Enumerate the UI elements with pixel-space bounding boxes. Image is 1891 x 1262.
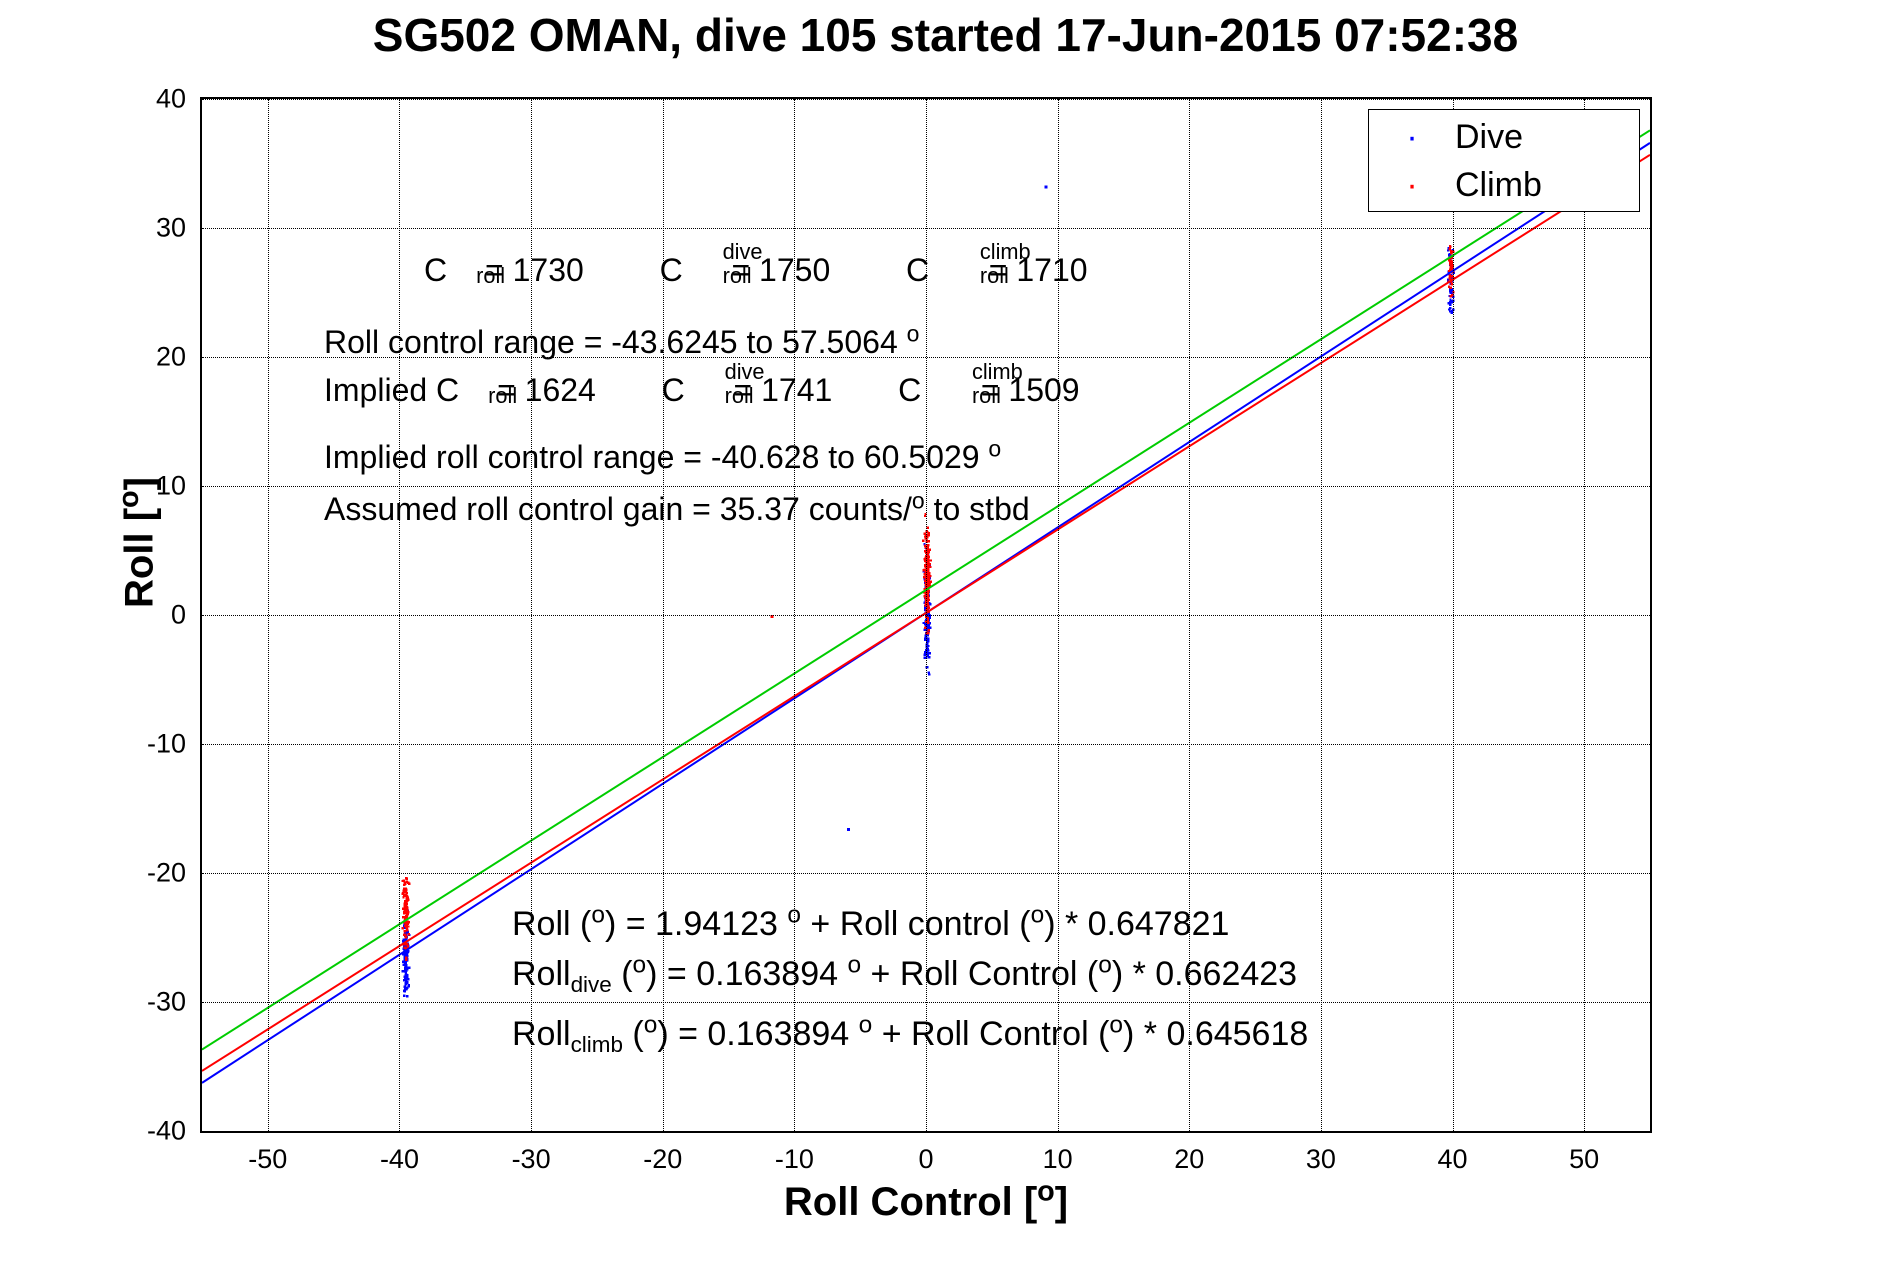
figure-root: SG502 OMAN, dive 105 started 17-Jun-2015… xyxy=(0,0,1891,1262)
y-tick-label: 0 xyxy=(171,600,186,631)
figure-title: SG502 OMAN, dive 105 started 17-Jun-2015… xyxy=(0,8,1891,62)
annotation-gain: Assumed roll control gain = 35.37 counts… xyxy=(324,491,1030,528)
legend-item-dive[interactable]: · Dive xyxy=(1369,113,1639,161)
legend-label-dive: Dive xyxy=(1455,118,1523,157)
degree-symbol-gain: o xyxy=(912,487,925,513)
outlier-point xyxy=(1044,185,1047,188)
dive-marker-icon: · xyxy=(1369,120,1455,154)
y-tick-label: 30 xyxy=(156,213,186,244)
x-tick-label: 10 xyxy=(1043,1135,1073,1175)
outlier-point xyxy=(847,828,850,831)
c-roll-climb-symbol: Cclimbrollclimb xyxy=(906,252,980,289)
gridline-y xyxy=(202,99,1650,100)
legend: · Dive · Climb xyxy=(1368,109,1640,212)
y-tick-label: 10 xyxy=(156,471,186,502)
x-tick-label: 0 xyxy=(918,1135,933,1175)
annotation-c-roll-line: Crollroll = 1730 Cdiverolldive = 1750 Cc… xyxy=(424,252,1088,289)
gridline-y xyxy=(202,228,1650,229)
implied-c-roll-symbol: rollroll xyxy=(459,372,488,409)
gridline-y xyxy=(202,744,1650,745)
degree-symbol-y: o xyxy=(113,490,145,508)
climb-marker-icon: · xyxy=(1369,168,1455,202)
y-tick-label: 20 xyxy=(156,342,186,373)
x-tick-label: 30 xyxy=(1306,1135,1336,1175)
x-tick-label: -10 xyxy=(775,1135,814,1175)
equation-roll-dive: Rolldive (o) = 0.163894 o + Roll Control… xyxy=(512,955,1297,998)
x-tick-label: -30 xyxy=(512,1135,551,1175)
legend-item-climb[interactable]: · Climb xyxy=(1369,161,1639,209)
x-tick-label: -50 xyxy=(248,1135,287,1175)
x-tick-label: 50 xyxy=(1569,1135,1599,1175)
x-tick-label: -40 xyxy=(380,1135,419,1175)
y-tick-label: 40 xyxy=(156,84,186,115)
equation-roll-climb: Rollclimb (o) = 0.163894 o + Roll Contro… xyxy=(512,1015,1308,1058)
x-tick-label: 20 xyxy=(1174,1135,1204,1175)
annotation-roll-control-range: Roll control range = -43.6245 to 57.5064… xyxy=(324,324,919,361)
x-tick-label: -20 xyxy=(643,1135,682,1175)
annotation-implied-range: Implied roll control range = -40.628 to … xyxy=(324,439,1001,476)
x-tick-label: 40 xyxy=(1438,1135,1468,1175)
gridline-y xyxy=(202,486,1650,487)
y-tick-label: -20 xyxy=(147,858,186,889)
gridline-y xyxy=(202,1002,1650,1003)
degree-symbol-range: o xyxy=(907,320,920,346)
x-axis-label: Roll Control [o] xyxy=(200,1180,1652,1225)
degree-symbol-x: o xyxy=(1037,1176,1055,1208)
implied-c-roll-climb-symbol: Cclimbrollclimb xyxy=(898,372,972,409)
annotation-implied-c-roll-line: Implied Crollroll = 1624 Cdiverolldive =… xyxy=(324,372,1080,409)
equation-roll-combined: Roll (o) = 1.94123 o + Roll control (o) … xyxy=(512,905,1229,944)
c-roll-symbol: Crollroll xyxy=(424,252,476,289)
gridline-y xyxy=(202,615,1650,616)
plot-area: -50-40-30-20-1001020304050 -40-30-20-100… xyxy=(200,97,1652,1133)
y-tick-label: -10 xyxy=(147,729,186,760)
legend-label-climb: Climb xyxy=(1455,166,1542,205)
y-tick-label: -30 xyxy=(147,987,186,1018)
degree-symbol-implied-range: o xyxy=(988,435,1001,461)
y-axis-label: Roll [o] xyxy=(118,343,163,743)
gridline-y xyxy=(202,873,1650,874)
y-tick-label: -40 xyxy=(147,1116,186,1147)
c-roll-dive-symbol: Cdiverolldive xyxy=(660,252,723,289)
implied-c-roll-dive-symbol: Cdiverolldive xyxy=(662,372,725,409)
